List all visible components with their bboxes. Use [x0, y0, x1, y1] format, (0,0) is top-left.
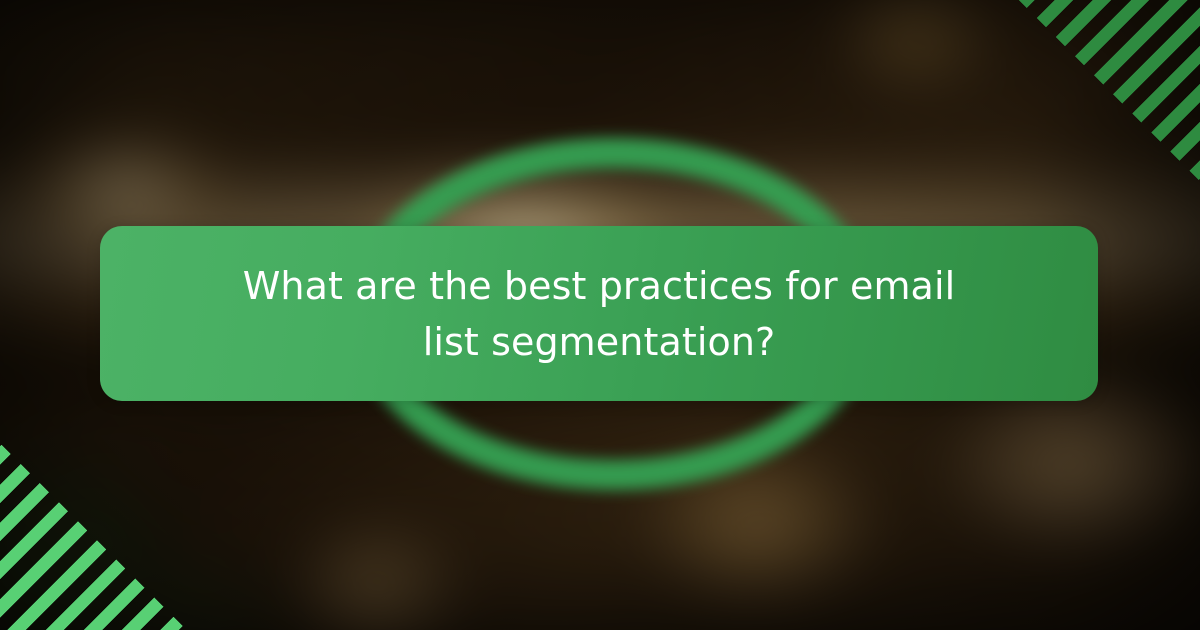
corner-decoration-top-right — [950, 0, 1200, 250]
dashed-diagonal-wedge-icon — [0, 380, 250, 630]
social-share-card: What are the best practices for email li… — [0, 0, 1200, 630]
dashed-diagonal-wedge-icon — [950, 0, 1200, 250]
question-title: What are the best practices for email li… — [219, 258, 979, 370]
corner-decoration-bottom-left — [0, 380, 250, 630]
question-card: What are the best practices for email li… — [100, 226, 1098, 401]
